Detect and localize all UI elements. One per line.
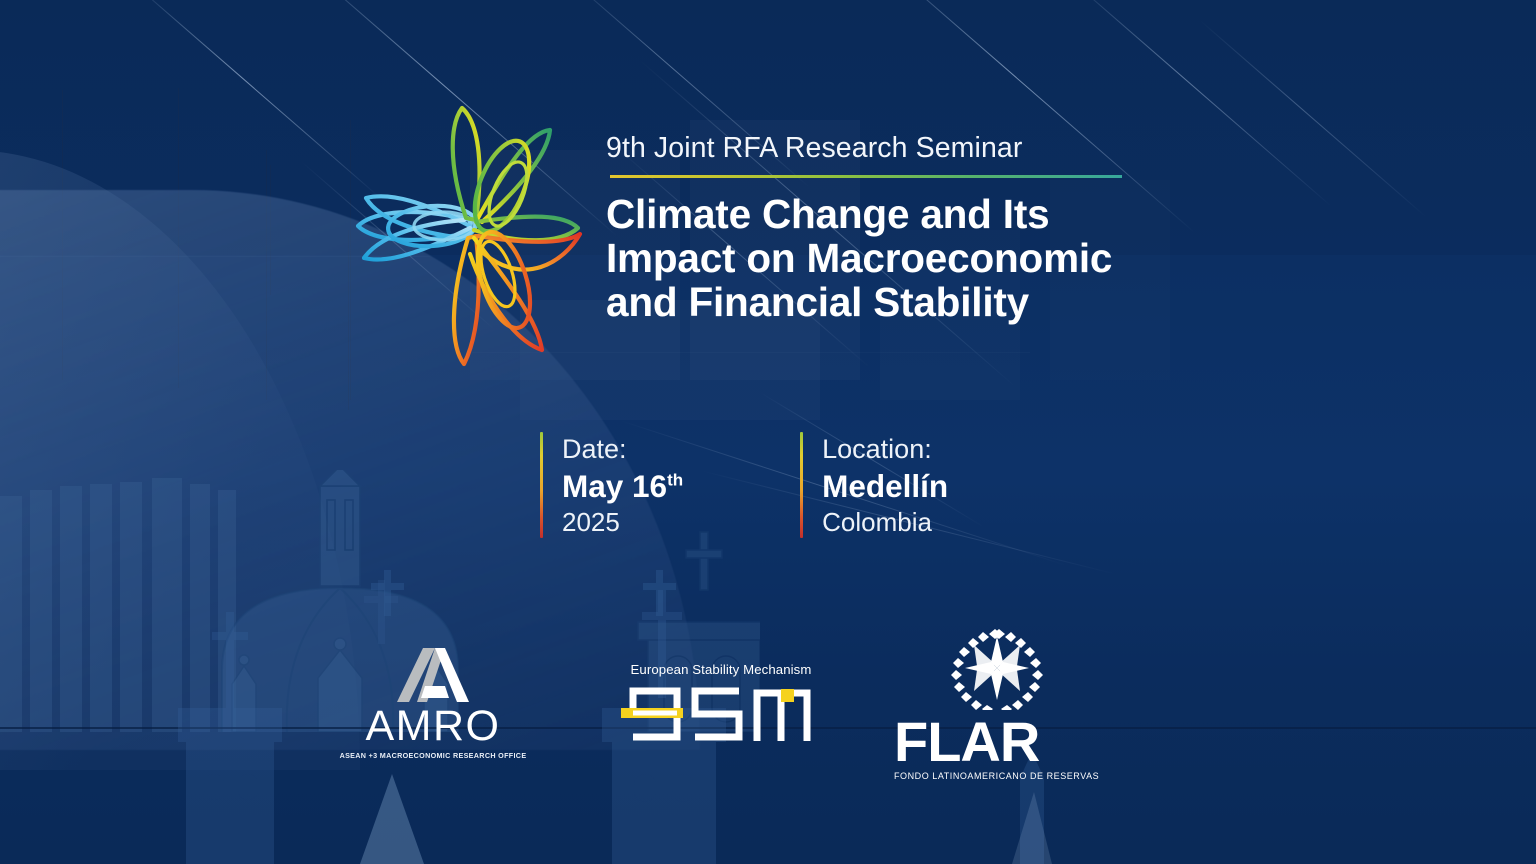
date-value: May 16th xyxy=(562,466,683,506)
esm-wordmark-icon xyxy=(621,683,821,745)
seminar-eyebrow-text: 9th Joint RFA Research Seminar xyxy=(606,132,1122,165)
date-value-text: May 16 xyxy=(562,468,667,504)
detail-accent-bar-date xyxy=(540,432,543,538)
header: 9th Joint RFA Research Seminar Climate C… xyxy=(352,96,1122,372)
location-city-text: Medellín xyxy=(822,468,948,504)
partner-logos: AMRO ASEAN +3 MACROECONOMIC RESEARCH OFF… xyxy=(340,626,1099,781)
location-country: Colombia xyxy=(822,506,948,538)
title-column: 9th Joint RFA Research Seminar Climate C… xyxy=(606,96,1122,324)
flar-wreath-star-icon xyxy=(949,626,1045,710)
esm-tagline: European Stability Mechanism xyxy=(631,662,812,677)
event-details: Date: May 16th 2025 Location: Medellín C… xyxy=(540,432,948,538)
amro-tagline: ASEAN +3 MACROECONOMIC RESEARCH OFFICE xyxy=(340,751,527,760)
detail-accent-bar-location xyxy=(800,432,803,538)
location-city: Medellín xyxy=(822,466,948,506)
amro-wordmark: AMRO xyxy=(366,704,501,748)
page-title: Climate Change and Its Impact on Macroec… xyxy=(606,192,1122,324)
amro-a-mark-icon xyxy=(383,648,483,702)
title-line-3: and Financial Stability xyxy=(606,280,1122,324)
slide-stage: 9th Joint RFA Research Seminar Climate C… xyxy=(0,0,1536,864)
flar-wordmark: FLAR xyxy=(894,714,1039,770)
date-value-ordinal: th xyxy=(667,471,683,490)
partner-logo-flar: FLAR FONDO LATINOAMERICANO DE RESERVAS xyxy=(894,626,1099,781)
detail-location: Location: Medellín Colombia xyxy=(800,432,948,538)
partner-logo-amro: AMRO ASEAN +3 MACROECONOMIC RESEARCH OFF… xyxy=(340,648,526,760)
location-label: Location: xyxy=(822,433,948,466)
flar-tagline: FONDO LATINOAMERICANO DE RESERVAS xyxy=(894,771,1099,781)
date-label: Date: xyxy=(562,433,683,466)
title-line-1: Climate Change and Its xyxy=(606,192,1122,236)
date-year: 2025 xyxy=(562,506,683,538)
title-accent-rule xyxy=(610,175,1122,178)
partner-logo-esm: European Stability Mechanism xyxy=(608,662,834,745)
rfa-seminar-flower-logo-icon xyxy=(352,102,602,372)
title-line-2: Impact on Macroeconomic xyxy=(606,236,1122,280)
detail-date: Date: May 16th 2025 xyxy=(540,432,683,538)
